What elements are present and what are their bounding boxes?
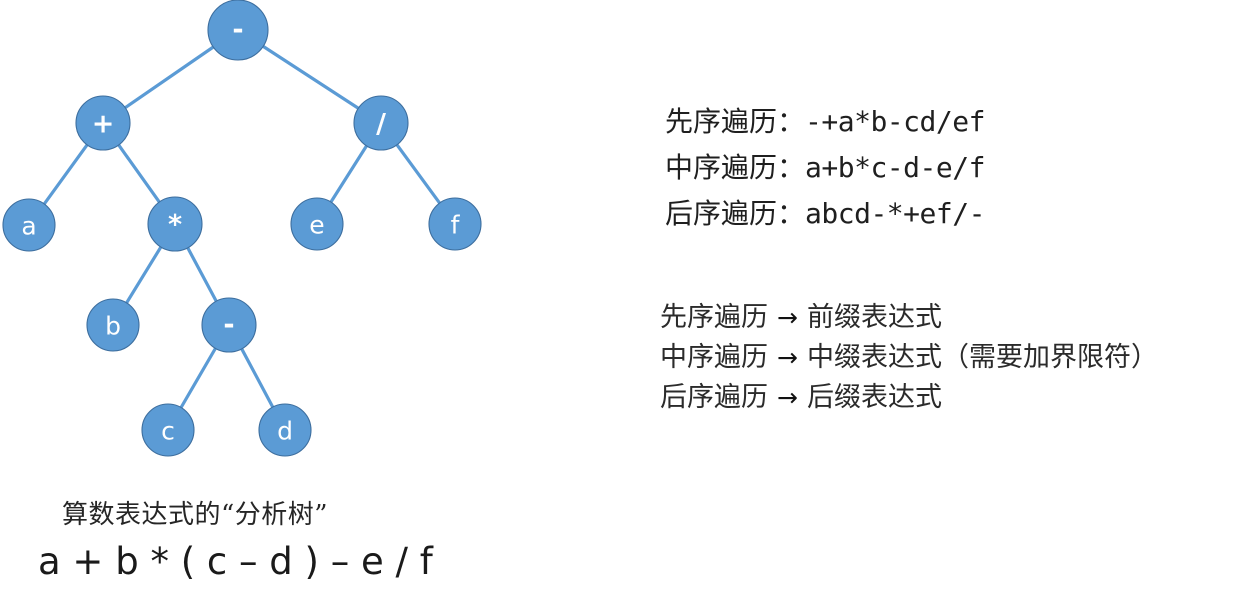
expression-tree-diagram: -+/a*efb-cd — [0, 0, 520, 480]
tree-node-label: / — [376, 109, 386, 140]
tree-node-label: b — [105, 312, 121, 341]
tree-edge-root-divide — [261, 45, 360, 109]
traversal-value: abcd-*+ef/- — [805, 197, 985, 230]
tree-expression: a + b * ( c – d ) – e / f — [38, 540, 498, 583]
tree-edge-plus-times — [118, 143, 161, 203]
tree-node-d[interactable]: d — [259, 404, 311, 456]
traversal-label: 先序遍历： — [665, 100, 805, 140]
mapping-target: 中缀表达式（需要加界限符） — [807, 335, 1158, 374]
traversal-label: 中序遍历： — [665, 146, 805, 186]
traversal-row: 先序遍历：-+a*b-cd/ef — [665, 100, 985, 146]
tree-edge-divide-f — [396, 143, 441, 204]
tree-node-label: a — [21, 212, 36, 241]
mapping-source: 中序遍历 — [660, 335, 768, 374]
tree-node-plus[interactable]: + — [76, 96, 130, 150]
traversal-value: -+a*b-cd/ef — [805, 105, 985, 138]
tree-edge-times-b — [126, 245, 162, 304]
tree-edge-times-minus2 — [187, 246, 217, 303]
tree-node-a[interactable]: a — [3, 199, 55, 251]
tree-node-label: d — [277, 417, 293, 446]
expression-tree-slide: -+/a*efb-cd 算数表达式的“分析树” a + b * ( c – d … — [0, 0, 1239, 604]
tree-node-label: - — [232, 15, 243, 46]
tree-node-label: + — [92, 109, 115, 140]
traversal-row: 中序遍历：a+b*c-d-e/f — [665, 146, 985, 192]
tree-edge-minus2-c — [180, 347, 216, 410]
right-arrow-icon: → — [777, 303, 798, 332]
tree-node-label: - — [223, 310, 234, 341]
tree-node-root[interactable]: - — [208, 0, 268, 60]
tree-node-group: -+/a*efb-cd — [3, 0, 481, 456]
tree-node-minus2[interactable]: - — [202, 298, 256, 352]
right-arrow-icon: → — [777, 383, 798, 412]
mapping-row: 中序遍历→中缀表达式（需要加界限符） — [660, 335, 1158, 375]
tree-node-divide[interactable]: / — [354, 96, 408, 150]
tree-caption: 算数表达式的“分析树” — [62, 494, 498, 531]
tree-node-label: c — [161, 417, 175, 446]
tree-edge-root-plus — [124, 46, 215, 109]
mapping-row: 先序遍历→前缀表达式 — [660, 295, 1158, 335]
tree-edge-plus-a — [43, 143, 88, 205]
tree-edge-divide-e — [330, 144, 368, 204]
traversal-row: 后序遍历：abcd-*+ef/- — [665, 192, 985, 238]
mapping-target: 前缀表达式 — [807, 295, 942, 334]
tree-node-label: e — [309, 211, 324, 240]
traversal-label: 后序遍历： — [665, 192, 805, 232]
traversal-value: a+b*c-d-e/f — [805, 151, 985, 184]
tree-node-e[interactable]: e — [291, 198, 343, 250]
mapping-source: 先序遍历 — [660, 295, 768, 334]
traversal-mapping-block: 先序遍历→前缀表达式中序遍历→中缀表达式（需要加界限符）后序遍历→后缀表达式 — [660, 295, 1158, 415]
mapping-source: 后序遍历 — [660, 375, 768, 414]
tree-edge-minus2-d — [241, 347, 274, 409]
tree-node-label: * — [168, 210, 182, 241]
tree-node-f[interactable]: f — [429, 198, 481, 250]
tree-node-label: f — [451, 211, 461, 240]
mapping-target: 后缀表达式 — [807, 375, 942, 414]
tree-node-b[interactable]: b — [87, 299, 139, 351]
right-arrow-icon: → — [777, 343, 798, 372]
mapping-row: 后序遍历→后缀表达式 — [660, 375, 1158, 415]
tree-node-times[interactable]: * — [148, 197, 202, 251]
tree-node-c[interactable]: c — [142, 404, 194, 456]
traversal-results-block: 先序遍历：-+a*b-cd/ef中序遍历：a+b*c-d-e/f后序遍历：abc… — [665, 100, 985, 238]
tree-caption-block: 算数表达式的“分析树” a + b * ( c – d ) – e / f — [38, 494, 498, 583]
